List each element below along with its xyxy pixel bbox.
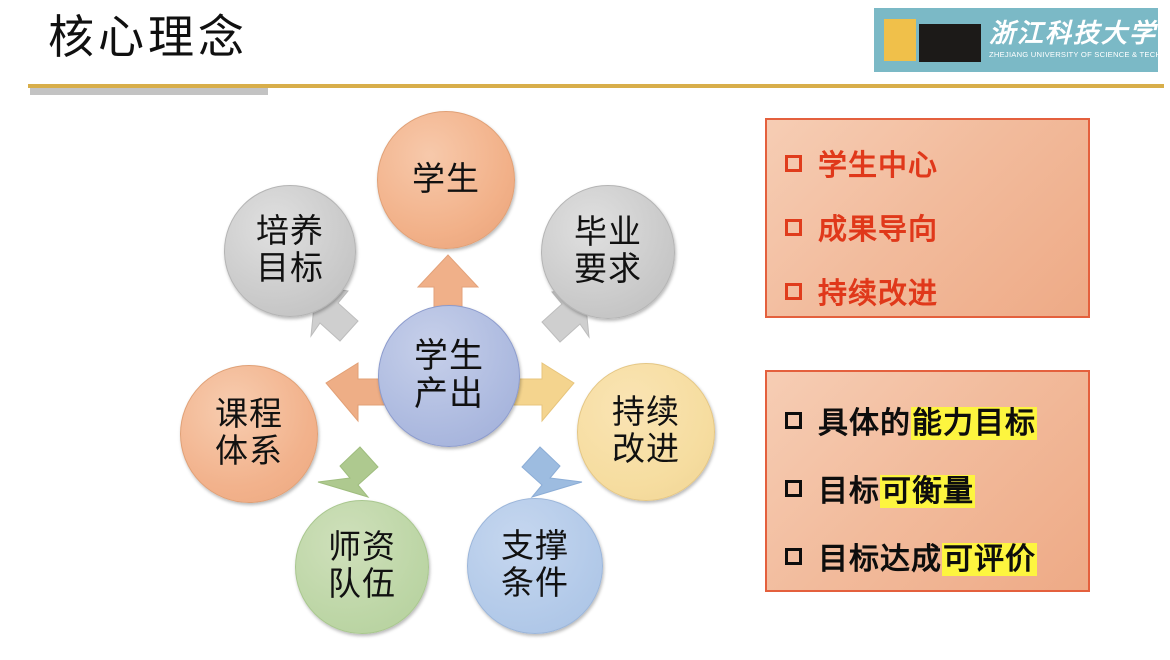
node-student-output-label: 学生 产出 xyxy=(414,338,484,414)
square-bullet-icon xyxy=(785,548,802,565)
node-support-conditions[interactable]: 支撑 条件 xyxy=(467,498,603,634)
page-title: 核心理念 xyxy=(48,8,248,68)
objective-highlight-text: 能力目标 xyxy=(911,407,1037,440)
arrow-down-left-icon xyxy=(318,447,378,497)
node-training-goal-label: 培养 目标 xyxy=(256,214,324,288)
logo-name-en: ZHEJIANG UNIVERSITY OF SCIENCE & TECHNOL… xyxy=(989,51,1170,59)
logo-yellow-block xyxy=(884,19,916,61)
objective-plain-text: 具体的 xyxy=(818,407,911,440)
objective-item: 目标达成可评价 xyxy=(785,534,1088,578)
node-graduation-requirement[interactable]: 毕业 要求 xyxy=(541,185,675,319)
node-graduation-requirement-label: 毕业 要求 xyxy=(574,215,642,289)
logo-black-block xyxy=(919,24,981,62)
principle-item: 学生中心 xyxy=(785,142,1088,184)
panel-core-principles: 学生中心 成果导向 持续改进 xyxy=(765,118,1090,318)
objective-plain-text: 目标达成 xyxy=(818,543,942,576)
node-continuous-improvement-label: 持续 改进 xyxy=(612,395,680,469)
node-continuous-improvement[interactable]: 持续 改进 xyxy=(577,363,715,501)
node-curriculum-system-label: 课程 体系 xyxy=(215,397,283,471)
objective-item: 目标可衡量 xyxy=(785,466,1088,510)
node-training-goal[interactable]: 培养 目标 xyxy=(224,185,356,317)
arrow-down-right-icon xyxy=(522,447,582,497)
slide-canvas: 核心理念 浙江科技大学 ZHEJIANG UNIVERSITY OF SCIEN… xyxy=(0,0,1170,660)
node-support-conditions-label: 支撑 条件 xyxy=(501,529,569,603)
node-curriculum-system[interactable]: 课程 体系 xyxy=(180,365,318,503)
principle-label: 持续改进 xyxy=(818,270,938,312)
objective-label: 目标可衡量 xyxy=(818,466,975,510)
node-faculty-team-label: 师资 队伍 xyxy=(328,530,396,604)
square-bullet-icon xyxy=(785,283,802,300)
objective-plain-text: 目标 xyxy=(818,475,880,508)
node-student-label: 学生 xyxy=(412,162,480,199)
node-faculty-team[interactable]: 师资 队伍 xyxy=(295,500,429,634)
objective-highlight-text: 可衡量 xyxy=(880,475,975,508)
logo-text-group: 浙江科技大学 ZHEJIANG UNIVERSITY OF SCIENCE & … xyxy=(989,21,1170,59)
square-bullet-icon xyxy=(785,219,802,236)
arrow-right-icon xyxy=(514,363,574,421)
title-gray-rule xyxy=(30,88,268,95)
objective-label: 目标达成可评价 xyxy=(818,534,1037,578)
objective-item: 具体的能力目标 xyxy=(785,398,1088,442)
principle-label: 成果导向 xyxy=(818,206,938,248)
principle-item: 成果导向 xyxy=(785,206,1088,248)
university-logo: 浙江科技大学 ZHEJIANG UNIVERSITY OF SCIENCE & … xyxy=(874,8,1158,72)
arrow-left-icon xyxy=(326,363,386,421)
square-bullet-icon xyxy=(785,480,802,497)
core-concept-diagram: 学生 培养 目标 毕业 要求 课程 体系 持续 改进 师资 队伍 支撑 条件 学… xyxy=(0,95,740,655)
logo-name-cn: 浙江科技大学 xyxy=(989,21,1170,47)
principle-label: 学生中心 xyxy=(818,142,938,184)
panel-objective-criteria: 具体的能力目标 目标可衡量 目标达成可评价 xyxy=(765,370,1090,592)
node-student[interactable]: 学生 xyxy=(377,111,515,249)
square-bullet-icon xyxy=(785,155,802,172)
node-student-output-center[interactable]: 学生 产出 xyxy=(378,305,520,447)
principle-item: 持续改进 xyxy=(785,270,1088,312)
square-bullet-icon xyxy=(785,412,802,429)
objective-label: 具体的能力目标 xyxy=(818,398,1037,442)
objective-highlight-text: 可评价 xyxy=(942,543,1037,576)
